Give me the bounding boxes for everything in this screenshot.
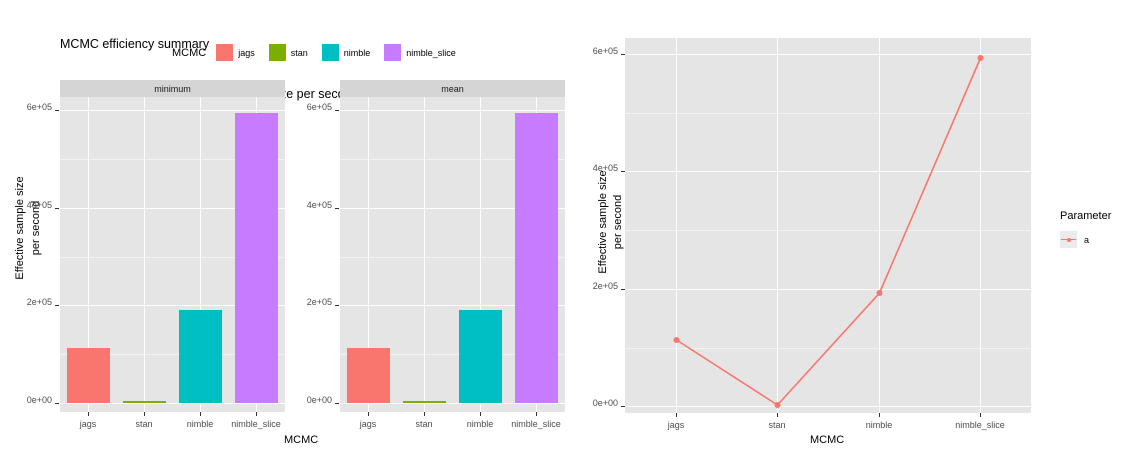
xtick-label-min-nimble: nimble [172, 419, 228, 429]
left-y-axis-title-2: per second [30, 98, 42, 358]
left-ytick-mark-4e05 [55, 208, 59, 209]
right-y-axis-title: Effective sample size [597, 92, 609, 352]
legend-item-parameter-a[interactable]: a [1060, 231, 1111, 248]
xtick-mark-min-nimble [200, 412, 201, 416]
legend-label-nimble: nimble [344, 48, 371, 58]
right-ytick-0e00: 0e+00 [580, 398, 618, 408]
gridline-y-6e05 [60, 110, 285, 111]
xtick-label-mean-nimble-slice: nimble_slice [508, 419, 564, 429]
legend-label-parameter-a: a [1084, 235, 1089, 245]
mean-ytick-mark-0e00 [335, 403, 339, 404]
right-y-axis-title-line1: Effective sample size [597, 170, 609, 273]
legend-label-nimble-slice: nimble_slice [406, 48, 456, 58]
right-ytick-4e05: 4e+05 [580, 163, 618, 173]
right-xtick-label-nimble-slice: nimble_slice [940, 420, 1020, 430]
mean-ytick-mark-6e05 [335, 110, 339, 111]
xtick-mark-mean-jags [368, 412, 369, 416]
bar-mean-jags[interactable] [347, 348, 390, 403]
xtick-label-mean-jags: jags [340, 419, 396, 429]
bar-minimum-jags[interactable] [67, 348, 110, 403]
bar-minimum-nimble-slice[interactable] [235, 113, 278, 403]
legend-label-jags: jags [238, 48, 255, 58]
legend-item-jags[interactable]: jags [216, 44, 255, 61]
bar-mean-nimble-slice[interactable] [515, 113, 558, 403]
left-x-axis-title: MCMC [284, 434, 318, 446]
xtick-label-min-nimble-slice: nimble_slice [228, 419, 284, 429]
right-xtick-label-stan: stan [737, 420, 817, 430]
right-y-axis-title-line2: per second [612, 195, 624, 249]
left-ytick-4e05: 4e+05 [14, 200, 52, 210]
legend-item-nimble-slice[interactable]: nimble_slice [384, 44, 456, 61]
parameter-legend-title: Parameter [1060, 210, 1111, 222]
point-nimble[interactable] [877, 290, 883, 296]
bar-minimum-stan[interactable] [123, 401, 166, 403]
facet-strip-minimum: minimum [60, 80, 285, 97]
gridline-mean-y-0e00 [340, 403, 565, 404]
xtick-mark-mean-nimble [480, 412, 481, 416]
facet-strip-mean-label: mean [441, 84, 464, 94]
xtick-mark-mean-stan [424, 412, 425, 416]
figure-root: MCMC efficiency summary (Minimum and mea… [0, 0, 1125, 450]
mean-ytick-mark-2e05 [335, 305, 339, 306]
xtick-mark-mean-nimble-slice [536, 412, 537, 416]
gridline-mean-y-6e05 [340, 110, 565, 111]
right-x-axis-title: MCMC [810, 434, 844, 446]
panel-mean [340, 97, 565, 412]
right-xtick-label-nimble: nimble [839, 420, 919, 430]
right-xtick-label-jags: jags [636, 420, 716, 430]
point-nimble-slice[interactable] [978, 55, 984, 61]
left-ytick-mark-2e05 [55, 305, 59, 306]
xtick-mark-min-stan [144, 412, 145, 416]
left-y-axis-title-line1: Effective sample size [14, 176, 26, 279]
mean-ytick-6e05: 6e+05 [294, 102, 332, 112]
gridline-mean-x-stan [424, 97, 425, 412]
bar-mean-stan[interactable] [403, 401, 446, 403]
gridline-x-stan [144, 97, 145, 412]
right-ytick-6e05: 6e+05 [580, 46, 618, 56]
panel-minimum [60, 97, 285, 412]
panel-parameter [625, 38, 1031, 413]
mean-ytick-mark-4e05 [335, 208, 339, 209]
mean-ytick-0e00: 0e+00 [294, 395, 332, 405]
legend-key-point-a [1067, 238, 1071, 242]
right-xtick-mark-jags [676, 413, 677, 417]
bar-mean-nimble[interactable] [459, 310, 502, 403]
xtick-label-min-stan: stan [116, 419, 172, 429]
mcmc-legend: MCMC jags stan nimble nimble_slice [172, 44, 464, 61]
left-ytick-2e05: 2e+05 [14, 297, 52, 307]
xtick-mark-min-jags [88, 412, 89, 416]
left-ytick-6e05: 6e+05 [14, 102, 52, 112]
right-xtick-mark-nimble-slice [980, 413, 981, 417]
point-stan[interactable] [775, 402, 781, 408]
mcmc-legend-title: MCMC [172, 47, 206, 59]
legend-label-stan: stan [291, 48, 308, 58]
left-ytick-mark-0e00 [55, 403, 59, 404]
legend-key-a [1060, 231, 1077, 248]
legend-item-stan[interactable]: stan [269, 44, 308, 61]
right-xtick-mark-stan [777, 413, 778, 417]
parameter-legend: Parameter a [1060, 210, 1111, 248]
mean-ytick-2e05: 2e+05 [294, 297, 332, 307]
legend-item-nimble[interactable]: nimble [322, 44, 371, 61]
bar-minimum-nimble[interactable] [179, 310, 222, 403]
legend-swatch-jags [216, 44, 233, 61]
xtick-label-mean-stan: stan [396, 419, 452, 429]
gridline-y-0e00 [60, 403, 285, 404]
legend-swatch-nimble-slice [384, 44, 401, 61]
right-xtick-mark-nimble [879, 413, 880, 417]
legend-swatch-nimble [322, 44, 339, 61]
facet-strip-mean: mean [340, 80, 565, 97]
series-a-line[interactable] [625, 38, 1031, 413]
xtick-mark-min-nimble-slice [256, 412, 257, 416]
left-y-axis-title: Effective sample size [14, 98, 26, 358]
point-jags[interactable] [674, 337, 680, 343]
mean-ytick-4e05: 4e+05 [294, 200, 332, 210]
xtick-label-min-jags: jags [60, 419, 116, 429]
left-ytick-0e00: 0e+00 [14, 395, 52, 405]
legend-swatch-stan [269, 44, 286, 61]
right-ytick-2e05: 2e+05 [580, 281, 618, 291]
right-y-axis-title-2: per second [612, 92, 624, 352]
facet-strip-minimum-label: minimum [154, 84, 191, 94]
xtick-label-mean-nimble: nimble [452, 419, 508, 429]
left-ytick-mark-6e05 [55, 110, 59, 111]
